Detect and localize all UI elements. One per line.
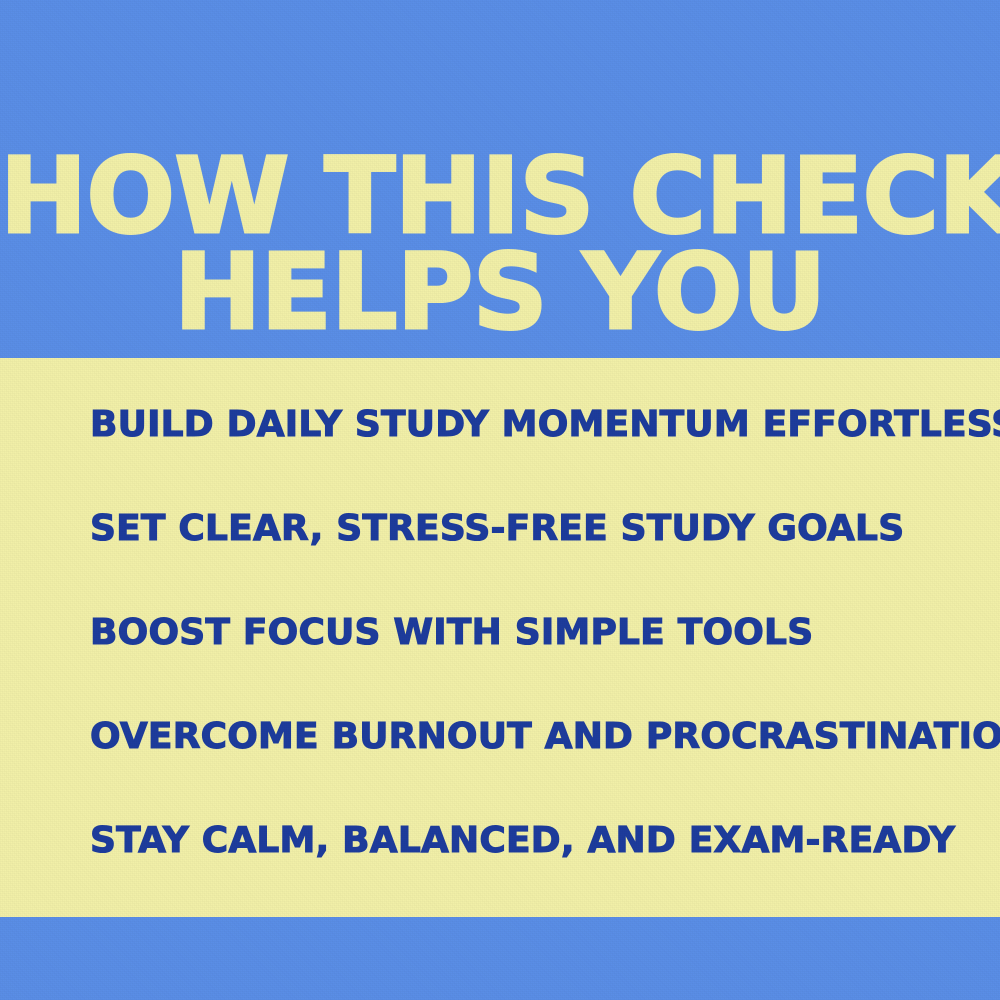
list-item: BUILD DAILY STUDY MOMENTUM EFFORTLESSLY <box>90 406 910 510</box>
benefit-item-label: STAY CALM, BALANCED, AND EXAM-READY <box>90 822 955 860</box>
list-item: SET CLEAR, STRESS-FREE STUDY GOALS <box>90 510 910 614</box>
page-title: HOW THIS CHECKLIST HELPS YOU <box>0 148 1000 340</box>
footer-color-band <box>0 917 1000 1000</box>
benefit-item-label: BOOST FOCUS WITH SIMPLE TOOLS <box>90 614 813 652</box>
benefit-item-label: BUILD DAILY STUDY MOMENTUM EFFORTLESSLY <box>90 406 1000 444</box>
page-title-line-2: HELPS YOU <box>0 244 1000 340</box>
benefit-item-label: SET CLEAR, STRESS-FREE STUDY GOALS <box>90 510 904 548</box>
benefit-list: BUILD DAILY STUDY MOMENTUM EFFORTLESSLY … <box>90 406 910 926</box>
list-item: OVERCOME BURNOUT AND PROCRASTINATION <box>90 718 910 822</box>
poster-canvas: HOW THIS CHECKLIST HELPS YOU BUILD DAILY… <box>0 0 1000 1000</box>
list-item: BOOST FOCUS WITH SIMPLE TOOLS <box>90 614 910 718</box>
benefit-item-label: OVERCOME BURNOUT AND PROCRASTINATION <box>90 718 1000 756</box>
list-item: STAY CALM, BALANCED, AND EXAM-READY <box>90 822 910 926</box>
page-title-line-1: HOW THIS CHECKLIST <box>0 148 1000 244</box>
